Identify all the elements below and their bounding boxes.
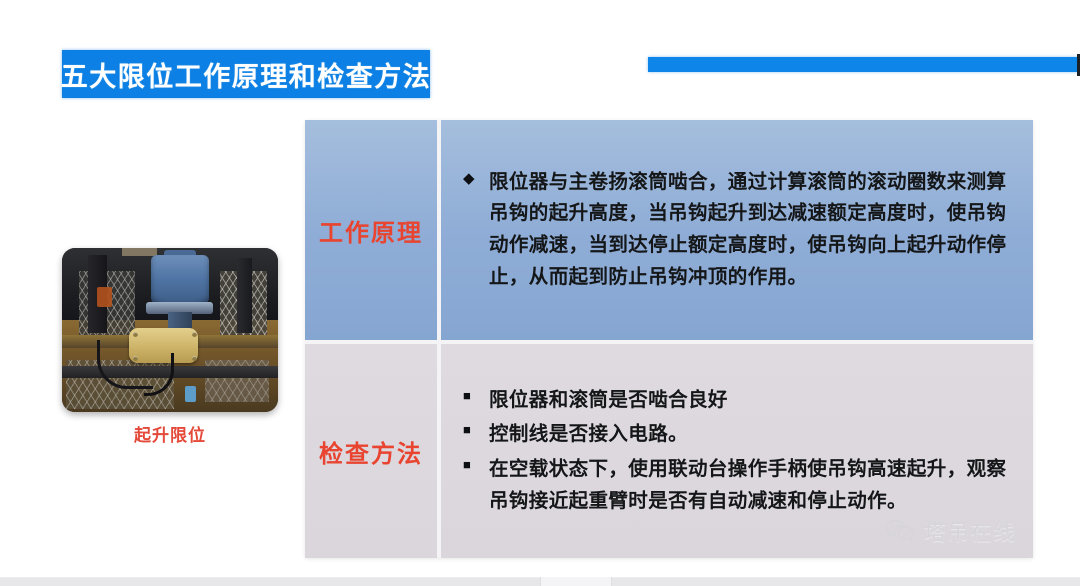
square-bullet-icon: ■ [463, 419, 489, 440]
watermark-text: 塔吊在线 [924, 515, 1016, 547]
page-title: 五大限位工作原理和检查方法 [61, 55, 432, 94]
slide-title-badge: 五大限位工作原理和检查方法 [62, 50, 430, 98]
list-item-text: 控制线是否接入电路。 [489, 419, 1021, 451]
bullet-list: ◆ 限位器与主卷扬滚筒啮合，通过计算滚筒的滚动圈数来测算吊钩的起升高度，当吊钩起… [463, 167, 1021, 293]
photo-steel-post-right [237, 258, 252, 333]
row-label-inspection-method: 检查方法 [305, 344, 437, 558]
table-row: 工作原理 ◆ 限位器与主卷扬滚筒啮合，通过计算滚筒的滚动圈数来测算吊钩的起升高度… [305, 120, 1033, 340]
hoisting-limit-switch-photo [62, 248, 278, 412]
principle-and-inspection-table: 工作原理 ◆ 限位器与主卷扬滚筒啮合，通过计算滚筒的滚动圈数来测算吊钩的起升高度… [305, 120, 1033, 558]
wechat-icon [885, 519, 915, 544]
row-label-working-principle: 工作原理 [305, 120, 437, 340]
wechat-watermark: 塔吊在线 [885, 515, 1016, 547]
list-item: ■ 控制线是否接入电路。 [463, 419, 1021, 451]
row-label-text: 检查方法 [319, 434, 423, 469]
photo-bolt [192, 332, 197, 337]
list-item: ◆ 限位器与主卷扬滚筒啮合，通过计算滚筒的滚动圈数来测算吊钩的起升高度，当吊钩起… [463, 167, 1021, 293]
photo-orange-marker [97, 287, 112, 307]
hoisting-limit-photo-block [62, 248, 278, 412]
square-bullet-icon: ■ [463, 385, 489, 406]
photo-sky-gap [122, 248, 157, 256]
photo-caption: 起升限位 [62, 421, 278, 446]
photo-bolt [133, 332, 138, 337]
diamond-bullet-icon: ◆ [463, 167, 489, 191]
bullet-list: ■ 限位器和滚筒是否啮合良好 ■ 控制线是否接入电路。 ■ 在空载状态下，使用联… [463, 385, 1021, 517]
row-body-working-principle: ◆ 限位器与主卷扬滚筒啮合，通过计算滚筒的滚动圈数来测算吊钩的起升高度，当吊钩起… [441, 120, 1033, 340]
photo-bolt [192, 356, 197, 361]
list-item-text: 限位器和滚筒是否啮合良好 [489, 385, 1021, 417]
square-bullet-icon: ■ [463, 454, 489, 475]
header-accent-rule [648, 57, 1080, 72]
list-item-text: 在空载状态下，使用联动台操作手柄使吊钩高速起升，观察吊钩接近起重臂时是否有自动减… [489, 454, 1021, 517]
list-item: ■ 限位器和滚筒是否啮合良好 [463, 385, 1021, 417]
bottom-chrome-band [0, 577, 1080, 586]
bottom-chrome-tab [540, 577, 612, 586]
photo-sensor-body [185, 386, 196, 402]
list-item-text: 限位器与主卷扬滚筒啮合，通过计算滚筒的滚动圈数来测算吊钩的起升高度，当吊钩起升到… [489, 167, 1021, 293]
row-label-text: 工作原理 [319, 213, 423, 248]
list-item: ■ 在空载状态下，使用联动台操作手柄使吊钩高速起升，观察吊钩接近起重臂时是否有自… [463, 454, 1021, 517]
